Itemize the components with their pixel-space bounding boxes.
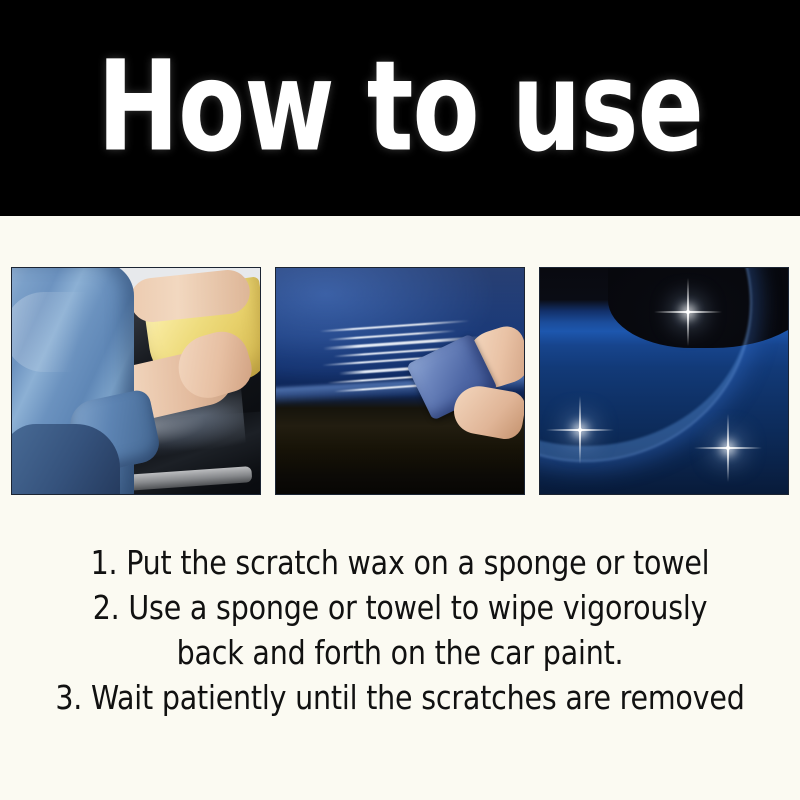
instruction-line-2: 2. Use a sponge or towel to wipe vigorou… — [16, 585, 784, 630]
sparkle-icon — [726, 446, 730, 450]
photo-applying-wax-with-sponge — [275, 267, 525, 495]
instruction-line-2-continued: back and forth on the car paint. — [16, 630, 784, 675]
header-banner: How to use — [0, 0, 800, 216]
instruction-list: 1. Put the scratch wax on a sponge or to… — [0, 540, 800, 720]
photo-glossy-repaired-paint — [539, 267, 789, 495]
photo-wiping-car-with-towel — [11, 267, 261, 495]
sparkle-icon — [686, 310, 690, 314]
photo-strip — [11, 267, 789, 495]
sparkle-icon — [578, 428, 582, 432]
page-title: How to use — [97, 47, 703, 166]
body-curve-highlight-shape — [539, 267, 750, 460]
jeans-shape — [11, 424, 120, 495]
instruction-line-3: 3. Wait patiently until the scratches ar… — [16, 675, 784, 720]
instruction-line-1: 1. Put the scratch wax on a sponge or to… — [16, 540, 784, 585]
